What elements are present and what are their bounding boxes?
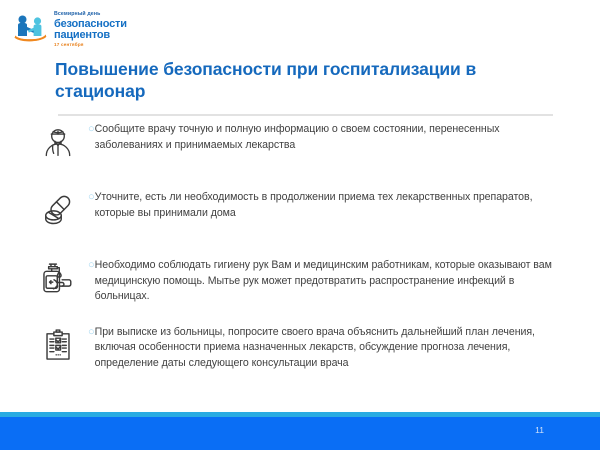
- page-number: 11: [535, 425, 544, 435]
- bullet-text: Уточните, есть ли необходимость в продол…: [95, 190, 558, 221]
- logo-text: Всемирный день безопасности пациентов 17…: [54, 12, 127, 48]
- bullet-body: ○ При выписке из больницы, попросите сво…: [88, 325, 558, 372]
- two-people-handshake-icon: [12, 10, 50, 51]
- bullet-list: ○ Сообщите врачу точную и полную информа…: [0, 122, 600, 371]
- pills-icon: [36, 190, 80, 236]
- list-item: ○ Сообщите врачу точную и полную информа…: [0, 122, 600, 168]
- footer-bar: [0, 417, 600, 450]
- footer: 11: [0, 412, 600, 450]
- bullet-marker: ○: [88, 190, 95, 206]
- bullet-text: При выписке из больницы, попросите своег…: [95, 325, 558, 372]
- logo-block: Всемирный день безопасности пациентов 17…: [12, 11, 192, 49]
- hand-sanitizer-icon: [36, 258, 80, 304]
- logo-line-main-2: пациентов: [54, 30, 127, 41]
- bullet-body: ○ Необходимо соблюдать гигиену рук Вам и…: [88, 258, 558, 305]
- bullet-marker: ○: [88, 325, 95, 341]
- bullet-body: ○ Уточните, есть ли необходимость в прод…: [88, 190, 558, 221]
- bullet-text: Необходимо соблюдать гигиену рук Вам и м…: [95, 258, 558, 305]
- bullet-marker: ○: [88, 122, 95, 138]
- bullet-body: ○ Сообщите врачу точную и полную информа…: [88, 122, 558, 153]
- list-item: ○ Уточните, есть ли необходимость в прод…: [0, 190, 600, 236]
- list-item: ○ При выписке из больницы, попросите сво…: [0, 325, 600, 372]
- clipboard-checklist-icon: [36, 325, 80, 371]
- title-divider: [58, 114, 553, 116]
- bullet-marker: ○: [88, 258, 95, 274]
- logo-line-top: Всемирный день: [54, 12, 127, 17]
- bullet-text: Сообщите врачу точную и полную информаци…: [95, 122, 558, 153]
- list-item: ○ Необходимо соблюдать гигиену рук Вам и…: [0, 258, 600, 305]
- doctor-icon: [36, 122, 80, 168]
- page-title: Повышение безопасности при госпитализаци…: [55, 58, 555, 102]
- logo-line-date: 17 сентября: [54, 43, 127, 48]
